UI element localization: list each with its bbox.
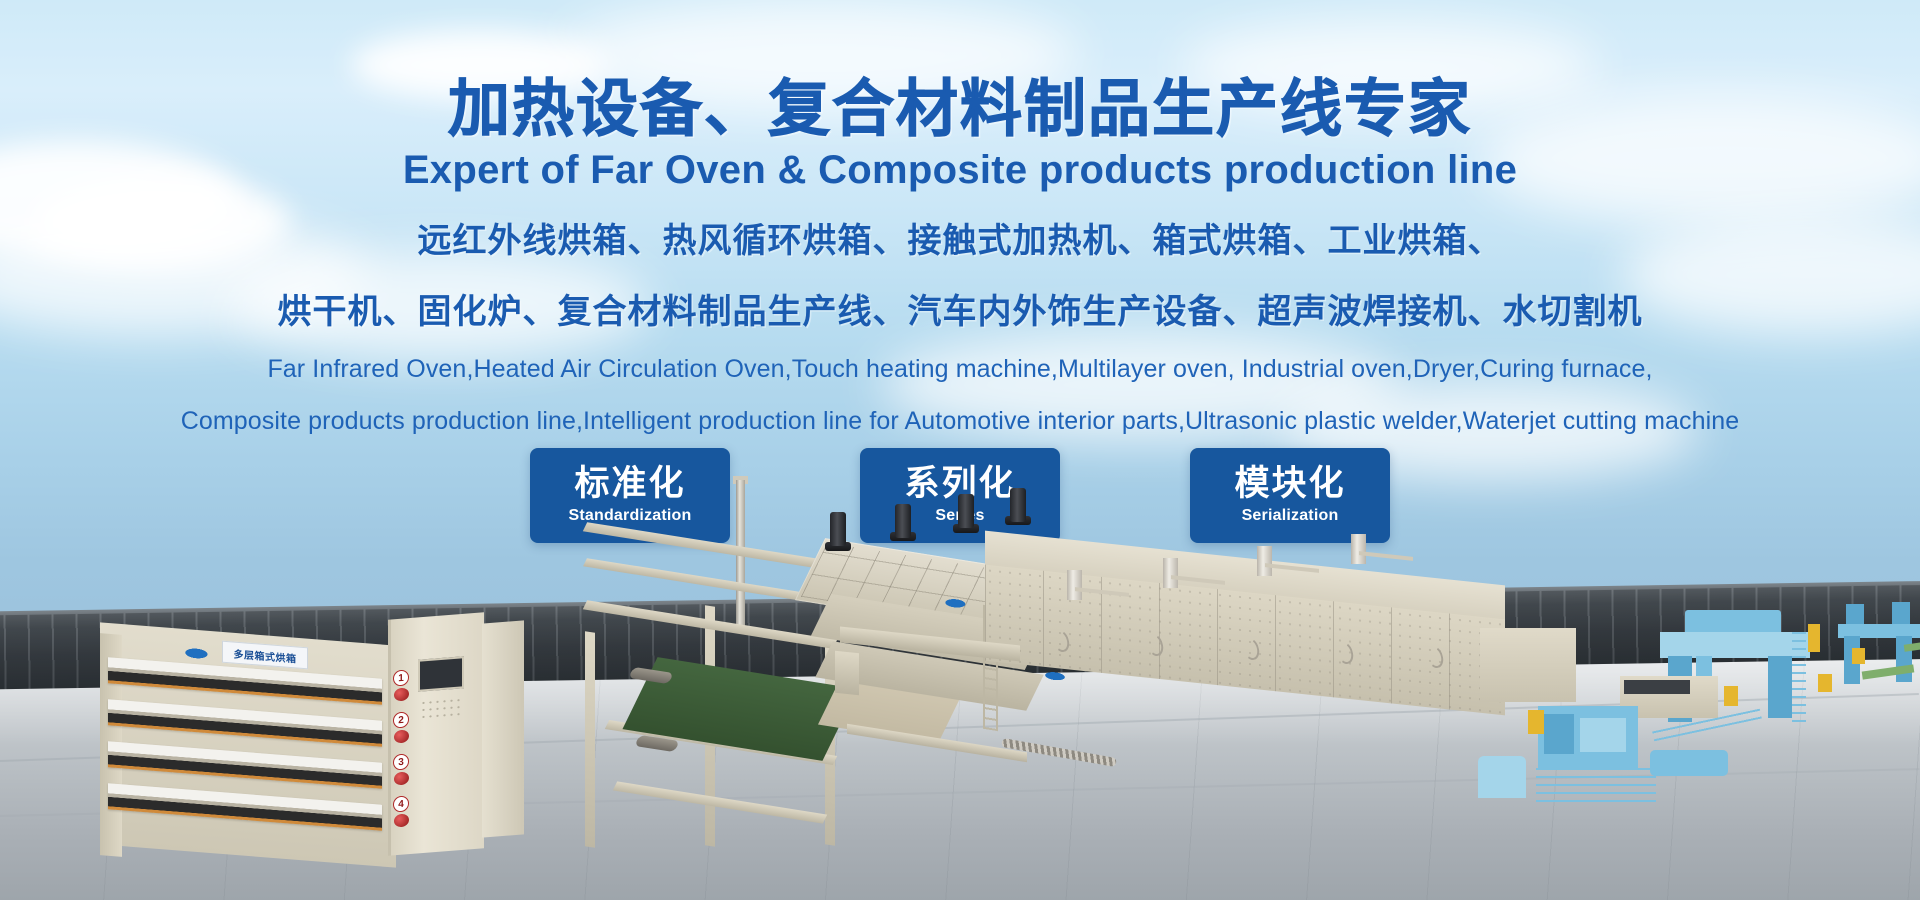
subhead-chinese-line1: 远红外线烘箱、热风循环烘箱、接触式加热机、箱式烘箱、工业烘箱、 xyxy=(0,219,1920,264)
tunnel-exhaust-stack xyxy=(1257,546,1272,576)
oven-display-screen[interactable] xyxy=(418,656,464,692)
press-hydraulic-cylinder xyxy=(1010,488,1026,522)
tunnel-exhaust-stack xyxy=(1067,570,1082,600)
press-frame-rail xyxy=(613,781,827,823)
gantry-platen xyxy=(1660,632,1810,658)
subhead-english-line2: Composite products production line,Intel… xyxy=(0,403,1920,439)
gantry-leg xyxy=(1768,656,1792,718)
banner-text-block: 加热设备、复合材料制品生产线专家 Expert of Far Oven & Co… xyxy=(0,0,1920,439)
inline-oven-slot xyxy=(1624,680,1690,694)
brand-logo-icon xyxy=(1037,668,1067,684)
badge-label-en: Serialization xyxy=(1242,507,1339,525)
robot-arm xyxy=(1852,648,1865,664)
gantry-ladder xyxy=(1792,630,1806,722)
assembly-conveyor xyxy=(1536,764,1656,802)
press-hydraulic-cylinder xyxy=(895,504,911,538)
subhead-english-line1: Far Infrared Oven,Heated Air Circulation… xyxy=(0,351,1920,387)
line-end-hood xyxy=(1478,756,1526,798)
oven-vent-grid xyxy=(420,696,464,721)
right-gantry-post xyxy=(1846,604,1864,626)
machine-multilayer-oven: 多层箱式烘箱 1 2 3 4 xyxy=(100,612,520,877)
press-hydraulic-cylinder xyxy=(958,494,974,528)
machine-blue-production-line xyxy=(1500,568,1920,888)
assembly-panel xyxy=(1544,714,1574,754)
brand-logo-icon xyxy=(176,645,210,664)
press-frame-post xyxy=(585,631,595,848)
press-hydraulic-cylinder xyxy=(830,512,846,546)
badge-label-cn: 模块化 xyxy=(1234,466,1345,503)
transfer-cylinder xyxy=(1650,750,1728,776)
badge-serialization[interactable]: 模块化 Serialization xyxy=(1190,448,1390,543)
robot-arm xyxy=(1528,710,1544,734)
tunnel-infeed-support xyxy=(835,651,859,696)
robot-arm xyxy=(1724,686,1738,706)
headline-english: Expert of Far Oven & Composite products … xyxy=(0,148,1920,193)
subhead-chinese-line2: 烘干机、固化炉、复合材料制品生产线、汽车内外饰生产设备、超声波焊接机、水切割机 xyxy=(0,290,1920,335)
banner-stage: 加热设备、复合材料制品生产线专家 Expert of Far Oven & Co… xyxy=(0,0,1920,900)
tunnel-exhaust-stack xyxy=(1351,534,1366,564)
machine-tunnel-oven xyxy=(975,558,1535,778)
robot-arm xyxy=(1818,674,1832,692)
robot-arm xyxy=(1808,624,1820,652)
oven-rear-cabinet xyxy=(482,620,524,837)
right-gantry-post xyxy=(1892,602,1910,626)
tunnel-exhaust-stack xyxy=(1163,558,1178,588)
assembly-panel xyxy=(1580,718,1626,752)
headline-chinese: 加热设备、复合材料制品生产线专家 xyxy=(0,78,1920,140)
side-oven-body xyxy=(1480,628,1576,702)
